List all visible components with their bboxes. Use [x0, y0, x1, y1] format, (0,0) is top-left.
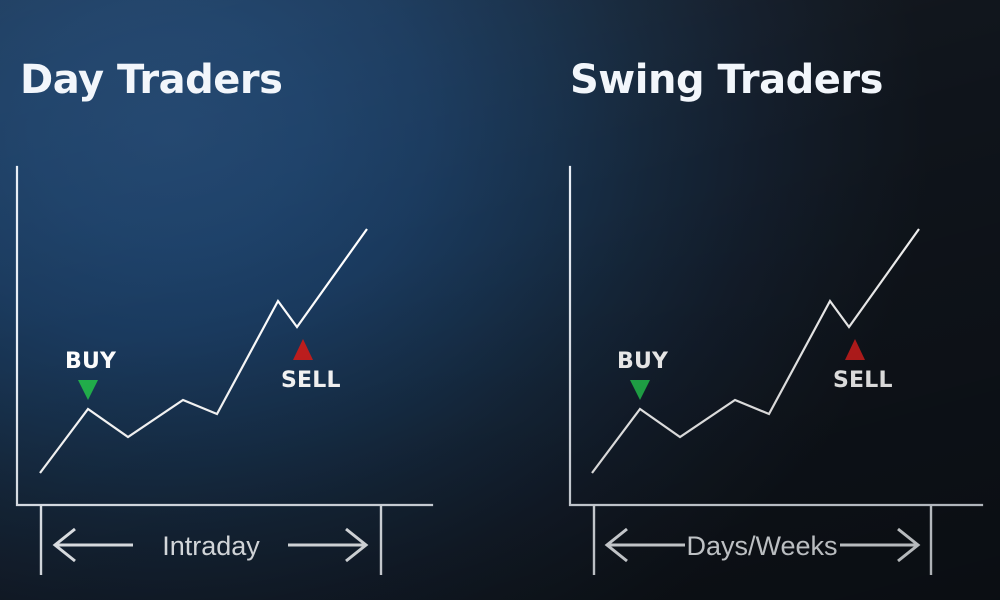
up-triangle-icon — [845, 339, 865, 360]
range-label-right: Days/Weeks — [686, 531, 837, 561]
arrow-left-icon-2 — [607, 529, 685, 561]
chart-axes-right — [570, 167, 982, 505]
buy-label-right: BUY — [617, 349, 669, 374]
sell-label-right: SELL — [833, 368, 893, 393]
infographic-canvas: Day Traders BUY SELL Intraday Swing Trad… — [0, 0, 1000, 600]
down-triangle-icon — [630, 380, 650, 400]
panel-swing-traders: Swing Traders BUY SELL Days/Weeks — [0, 0, 1000, 600]
panel-title-swing-traders: Swing Traders — [570, 57, 883, 103]
arrow-right-icon-2 — [840, 529, 918, 561]
